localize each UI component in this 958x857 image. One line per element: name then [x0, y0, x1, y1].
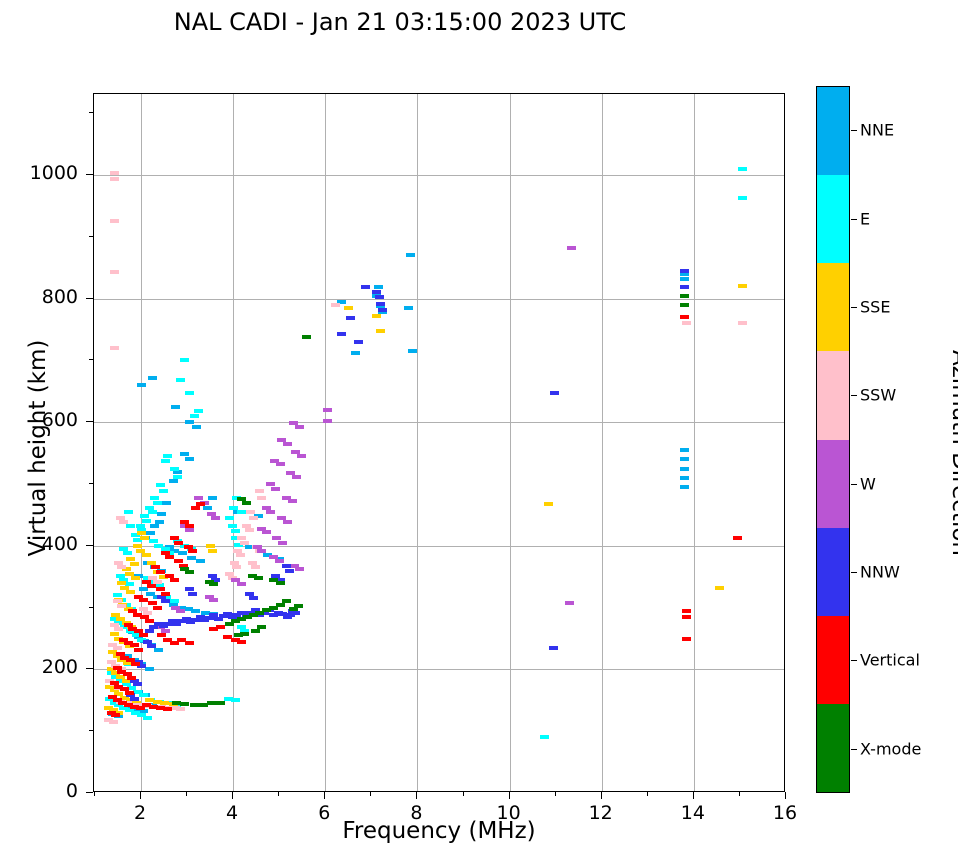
data-point: [715, 586, 724, 590]
data-point: [170, 467, 179, 471]
data-point: [142, 553, 151, 557]
data-point: [173, 475, 182, 479]
data-point: [269, 613, 278, 617]
data-point: [206, 544, 215, 548]
data-point: [170, 641, 179, 645]
data-point: [540, 735, 549, 739]
colorbar-label-sse: SSE: [860, 297, 890, 316]
data-point: [137, 531, 146, 535]
data-point: [139, 633, 148, 637]
colorbar-segment-nne[interactable]: [817, 87, 849, 175]
data-point: [180, 702, 189, 706]
colorbar-segment-nnw[interactable]: [817, 528, 849, 616]
data-point: [550, 391, 559, 395]
data-point: [126, 557, 135, 561]
data-point: [157, 512, 166, 516]
data-point: [275, 559, 284, 563]
data-point: [180, 452, 189, 456]
data-point: [148, 510, 157, 514]
y-tick-mark: [86, 298, 93, 299]
data-point: [146, 531, 155, 535]
data-point: [282, 564, 291, 568]
data-point: [351, 351, 360, 355]
data-point: [680, 294, 689, 298]
data-point: [232, 565, 241, 569]
data-point: [680, 467, 689, 471]
data-point: [225, 516, 234, 520]
data-point: [549, 646, 558, 650]
data-point: [188, 592, 197, 596]
y-tick-label: 0: [8, 780, 78, 802]
colorbar-label-vertical: Vertical: [860, 651, 920, 670]
data-point: [404, 306, 413, 310]
data-point: [292, 475, 301, 479]
data-point: [185, 570, 194, 574]
data-point: [544, 502, 553, 506]
x-minor-tick: [739, 792, 740, 796]
gridline-vertical: [694, 94, 695, 791]
data-point: [170, 578, 179, 582]
colorbar-segment-x-mode[interactable]: [817, 704, 849, 792]
data-point: [680, 448, 689, 452]
gridline-vertical: [233, 94, 234, 791]
data-point: [191, 506, 200, 510]
data-point: [190, 414, 199, 418]
colorbar-segment-w[interactable]: [817, 440, 849, 528]
x-minor-tick: [647, 792, 648, 796]
colorbar-tick: [851, 130, 857, 131]
data-point: [680, 485, 689, 489]
data-point: [117, 604, 126, 608]
data-point: [231, 698, 240, 702]
data-point: [113, 593, 122, 597]
x-tick-mark: [232, 792, 233, 799]
x-tick-mark: [509, 792, 510, 799]
data-point: [378, 308, 387, 312]
gridline-vertical: [325, 94, 326, 791]
data-point: [291, 450, 300, 454]
data-point: [376, 302, 385, 306]
data-point: [225, 622, 234, 626]
x-minor-tick: [463, 792, 464, 796]
data-point: [289, 607, 298, 611]
colorbar-segment-e[interactable]: [817, 175, 849, 263]
data-point: [249, 516, 258, 520]
data-point: [237, 510, 246, 514]
data-point: [162, 501, 171, 505]
data-point: [209, 582, 218, 586]
data-point: [117, 565, 126, 569]
data-point: [190, 703, 199, 707]
data-point: [150, 524, 159, 528]
data-point: [127, 676, 136, 680]
data-point: [738, 284, 747, 288]
data-point: [207, 512, 216, 516]
gridline-vertical: [510, 94, 511, 791]
data-point: [192, 425, 201, 429]
data-point: [110, 270, 119, 274]
colorbar-title: Azimuth Direction: [947, 293, 958, 613]
data-point: [185, 524, 194, 528]
x-tick-mark: [601, 792, 602, 799]
x-tick-mark: [416, 792, 417, 799]
y-tick-label: 200: [8, 656, 78, 678]
data-point: [251, 565, 260, 569]
colorbar-tick: [851, 484, 857, 485]
data-point: [126, 524, 135, 528]
data-point: [147, 584, 156, 588]
data-point: [262, 530, 271, 534]
data-point: [130, 562, 139, 566]
data-point: [354, 340, 363, 344]
data-point: [176, 707, 185, 711]
data-point: [236, 553, 245, 557]
data-point: [738, 321, 747, 325]
data-point: [323, 419, 332, 423]
data-point: [113, 646, 122, 650]
colorbar-tick: [851, 219, 857, 220]
gridline-horizontal: [94, 546, 784, 547]
data-point: [266, 482, 275, 486]
data-point: [257, 549, 266, 553]
data-point: [161, 459, 170, 463]
data-point: [133, 544, 142, 548]
y-tick-mark: [86, 668, 93, 669]
y-minor-tick: [89, 483, 93, 484]
y-minor-tick: [89, 730, 93, 731]
data-point: [139, 693, 148, 697]
y-minor-tick: [89, 607, 93, 608]
data-point: [680, 315, 689, 319]
data-point: [186, 620, 195, 624]
data-point: [680, 285, 689, 289]
data-point: [156, 587, 165, 591]
data-point: [211, 516, 220, 520]
data-point: [145, 619, 154, 623]
gridline-vertical: [141, 94, 142, 791]
data-point: [142, 519, 151, 523]
data-point: [185, 641, 194, 645]
data-point: [214, 617, 223, 621]
data-point: [331, 303, 340, 307]
data-point: [130, 697, 139, 701]
y-tick-mark: [86, 174, 93, 175]
data-point: [682, 609, 691, 613]
data-point: [406, 253, 415, 257]
data-point: [246, 510, 255, 514]
data-point: [738, 196, 747, 200]
data-point: [682, 637, 691, 641]
colorbar-label-nne: NNE: [860, 121, 894, 140]
data-point: [346, 316, 355, 320]
data-point: [161, 592, 170, 596]
data-point: [126, 590, 135, 594]
data-point: [680, 277, 689, 281]
data-point: [682, 321, 691, 325]
data-point: [185, 457, 194, 461]
data-point: [117, 581, 126, 585]
y-tick-label: 1000: [8, 162, 78, 184]
data-point: [110, 346, 119, 350]
colorbar-tick: [851, 660, 857, 661]
data-point: [237, 582, 246, 586]
data-point: [245, 528, 254, 532]
colorbar-label-nnw: NNW: [860, 563, 900, 582]
data-point: [148, 601, 157, 605]
data-point: [251, 629, 260, 633]
data-point: [187, 556, 196, 560]
data-point: [283, 442, 292, 446]
colorbar-tick: [851, 572, 857, 573]
data-point: [150, 496, 159, 500]
data-point: [133, 682, 142, 686]
data-point: [208, 549, 217, 553]
colorbar-label-e: E: [860, 209, 870, 228]
data-point: [143, 611, 152, 615]
data-point: [161, 599, 170, 603]
data-point: [148, 376, 157, 380]
data-point: [124, 510, 133, 514]
data-point: [209, 598, 218, 602]
data-point: [123, 551, 132, 555]
colorbar-tick: [851, 749, 857, 750]
data-point: [153, 606, 162, 610]
data-point: [266, 510, 275, 514]
y-tick-mark: [86, 792, 93, 793]
data-point: [240, 541, 249, 545]
data-point: [231, 529, 240, 533]
data-point: [125, 691, 134, 695]
data-point: [257, 496, 266, 500]
data-point: [185, 587, 194, 591]
y-tick-mark: [86, 421, 93, 422]
data-point: [153, 501, 162, 505]
x-minor-tick: [278, 792, 279, 796]
data-point: [207, 701, 216, 705]
x-minor-tick: [555, 792, 556, 796]
data-point: [208, 496, 217, 500]
data-point: [131, 576, 140, 580]
gridline-horizontal: [94, 669, 784, 670]
data-point: [140, 514, 149, 518]
data-point: [376, 329, 385, 333]
data-point: [567, 246, 576, 250]
data-point: [216, 701, 225, 705]
data-point: [156, 483, 165, 487]
y-axis-label: Virtual height (km): [25, 298, 51, 598]
data-point: [176, 378, 185, 382]
data-point: [288, 499, 297, 503]
colorbar-segment-vertical[interactable]: [817, 616, 849, 704]
data-point: [130, 643, 139, 647]
data-point: [191, 609, 200, 613]
data-point: [254, 576, 263, 580]
data-point: [680, 457, 689, 461]
data-point: [565, 601, 574, 605]
data-point: [185, 391, 194, 395]
data-point: [295, 567, 304, 571]
data-point: [203, 506, 212, 510]
data-point: [143, 716, 152, 720]
plot-area[interactable]: [93, 93, 785, 792]
data-point: [323, 408, 332, 412]
data-point: [174, 541, 183, 545]
data-point: [237, 640, 246, 644]
colorbar-label-x-mode: X-mode: [860, 739, 921, 758]
data-point: [110, 632, 119, 636]
data-point: [680, 303, 689, 307]
data-point: [194, 496, 203, 500]
data-point: [165, 555, 174, 559]
data-point: [163, 707, 172, 711]
data-point: [111, 713, 120, 717]
y-minor-tick: [89, 236, 93, 237]
data-point: [374, 285, 383, 289]
data-point: [185, 528, 194, 532]
data-point: [242, 501, 251, 505]
data-point: [738, 167, 747, 171]
x-minor-tick: [186, 792, 187, 796]
data-point: [276, 581, 285, 585]
gridline-horizontal: [94, 299, 784, 300]
data-point: [176, 609, 185, 613]
data-point: [137, 383, 146, 387]
data-point: [136, 549, 145, 553]
data-point: [682, 615, 691, 619]
data-point: [139, 598, 148, 602]
gridline-vertical: [417, 94, 418, 791]
x-tick-mark: [785, 792, 786, 799]
data-point: [233, 549, 242, 553]
data-point: [361, 285, 370, 289]
x-axis-label: Frequency (MHz): [93, 818, 785, 844]
colorbar[interactable]: [816, 86, 850, 793]
data-point: [255, 489, 264, 493]
data-point: [109, 720, 118, 724]
data-point: [228, 524, 237, 528]
data-point: [178, 551, 187, 555]
page-title: NAL CADI - Jan 21 03:15:00 2023 UTC: [0, 8, 800, 36]
x-tick-mark: [324, 792, 325, 799]
data-point: [295, 425, 304, 429]
data-point: [234, 633, 243, 637]
data-point: [185, 420, 194, 424]
data-point: [110, 177, 119, 181]
y-minor-tick: [89, 112, 93, 113]
gridline-vertical: [602, 94, 603, 791]
data-point: [171, 405, 180, 409]
data-point: [147, 644, 156, 648]
ionogram-figure: NAL CADI - Jan 21 03:15:00 2023 UTC 2468…: [0, 0, 958, 857]
data-point: [110, 171, 119, 175]
data-point: [154, 648, 163, 652]
data-point: [169, 479, 178, 483]
data-point: [142, 580, 151, 584]
data-point: [372, 314, 381, 318]
data-point: [116, 652, 125, 656]
data-point: [209, 627, 218, 631]
colorbar-segment-sse[interactable]: [817, 263, 849, 351]
data-point: [140, 536, 149, 540]
gridline-horizontal: [94, 422, 784, 423]
colorbar-segment-ssw[interactable]: [817, 351, 849, 439]
colorbar-label-ssw: SSW: [860, 386, 896, 405]
data-point: [297, 454, 306, 458]
data-point: [170, 599, 179, 603]
data-point: [114, 627, 123, 631]
x-tick-mark: [693, 792, 694, 799]
data-point: [278, 541, 287, 545]
data-point: [283, 520, 292, 524]
data-point: [680, 476, 689, 480]
data-point: [149, 539, 158, 543]
data-point: [408, 349, 417, 353]
data-point: [194, 409, 203, 413]
data-point: [337, 332, 346, 336]
data-point: [276, 462, 285, 466]
x-minor-tick: [94, 792, 95, 796]
data-point: [196, 559, 205, 563]
data-point: [188, 549, 197, 553]
data-point: [119, 520, 128, 524]
data-point: [156, 570, 165, 574]
data-point: [131, 662, 140, 666]
data-point: [375, 295, 384, 299]
data-point: [302, 335, 311, 339]
data-point: [344, 306, 353, 310]
colorbar-tick: [851, 307, 857, 308]
data-point: [174, 559, 183, 563]
data-point: [153, 580, 162, 584]
x-minor-tick: [370, 792, 371, 796]
data-point: [134, 648, 143, 652]
data-point: [113, 599, 122, 603]
data-point: [733, 536, 742, 540]
x-tick-mark: [140, 792, 141, 799]
data-point: [271, 487, 280, 491]
data-point: [285, 569, 294, 573]
colorbar-tick: [851, 395, 857, 396]
y-minor-tick: [89, 359, 93, 360]
data-point: [180, 358, 189, 362]
y-tick-mark: [86, 545, 93, 546]
gridline-horizontal: [94, 175, 784, 176]
data-point: [159, 489, 168, 493]
data-point: [249, 596, 258, 600]
data-point: [372, 290, 381, 294]
data-point: [110, 219, 119, 223]
colorbar-label-w: W: [860, 474, 876, 493]
data-point: [680, 269, 689, 273]
